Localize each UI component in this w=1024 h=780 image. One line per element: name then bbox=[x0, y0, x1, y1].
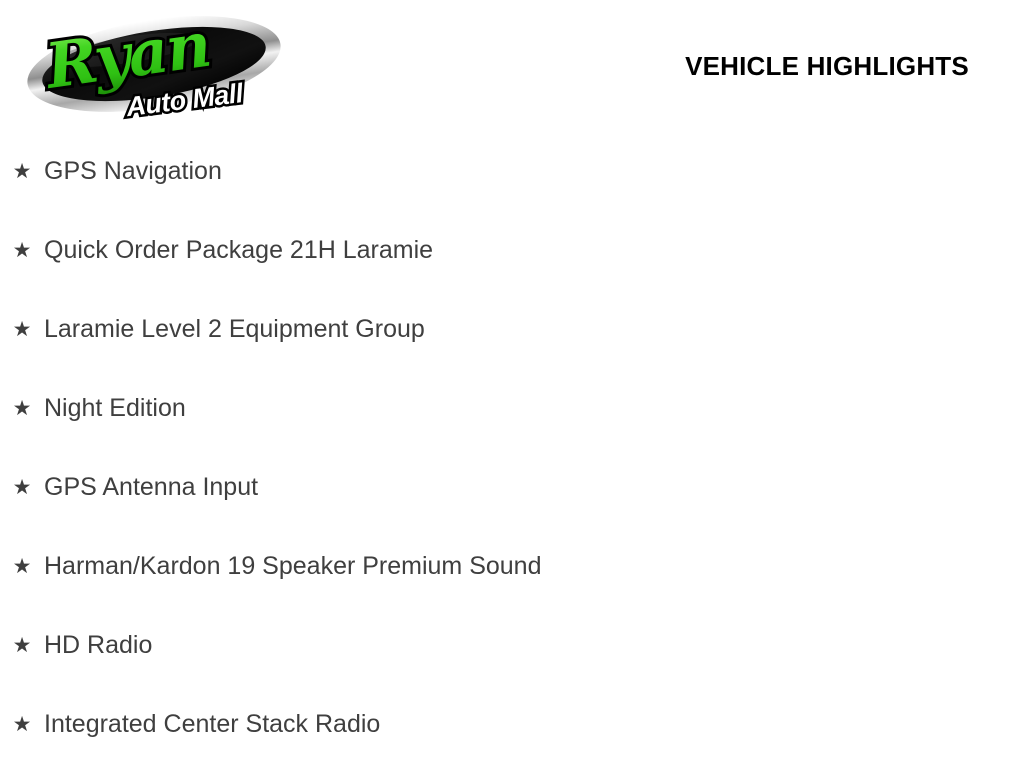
list-item-label: GPS Navigation bbox=[44, 148, 222, 195]
list-item: ★ Integrated Center Stack Radio bbox=[0, 701, 1024, 780]
page-title: VEHICLE HIGHLIGHTS bbox=[666, 51, 988, 82]
star-bullet-icon: ★ bbox=[11, 701, 33, 748]
list-item: ★ Night Edition bbox=[0, 385, 1024, 464]
list-item-label: HD Radio bbox=[44, 622, 152, 669]
list-item-label: Laramie Level 2 Equipment Group bbox=[44, 306, 425, 353]
star-bullet-icon: ★ bbox=[11, 543, 33, 590]
star-bullet-icon: ★ bbox=[11, 227, 33, 274]
list-item: ★ Harman/Kardon 19 Speaker Premium Sound bbox=[0, 543, 1024, 622]
star-bullet-icon: ★ bbox=[11, 306, 33, 353]
list-item-label: Quick Order Package 21H Laramie bbox=[44, 227, 433, 274]
list-item-label: Harman/Kardon 19 Speaker Premium Sound bbox=[44, 543, 542, 590]
star-bullet-icon: ★ bbox=[11, 148, 33, 195]
list-item-label: Night Edition bbox=[44, 385, 186, 432]
list-item: ★ HD Radio bbox=[0, 622, 1024, 701]
ryan-auto-mall-logo[interactable]: Ryan Auto Mall bbox=[18, 8, 290, 120]
list-item: ★ GPS Navigation bbox=[0, 148, 1024, 227]
list-item-label: Integrated Center Stack Radio bbox=[44, 701, 380, 748]
star-bullet-icon: ★ bbox=[11, 385, 33, 432]
vehicle-highlights-list: ★ GPS Navigation ★ Quick Order Package 2… bbox=[0, 148, 1024, 780]
star-bullet-icon: ★ bbox=[11, 464, 33, 511]
page-header: Ryan Auto Mall VEHICLE HIGHLIGHTS bbox=[0, 0, 1024, 130]
list-item-label: GPS Antenna Input bbox=[44, 464, 258, 511]
star-bullet-icon: ★ bbox=[11, 622, 33, 669]
list-item: ★ Quick Order Package 21H Laramie bbox=[0, 227, 1024, 306]
list-item: ★ GPS Antenna Input bbox=[0, 464, 1024, 543]
list-item: ★ Laramie Level 2 Equipment Group bbox=[0, 306, 1024, 385]
